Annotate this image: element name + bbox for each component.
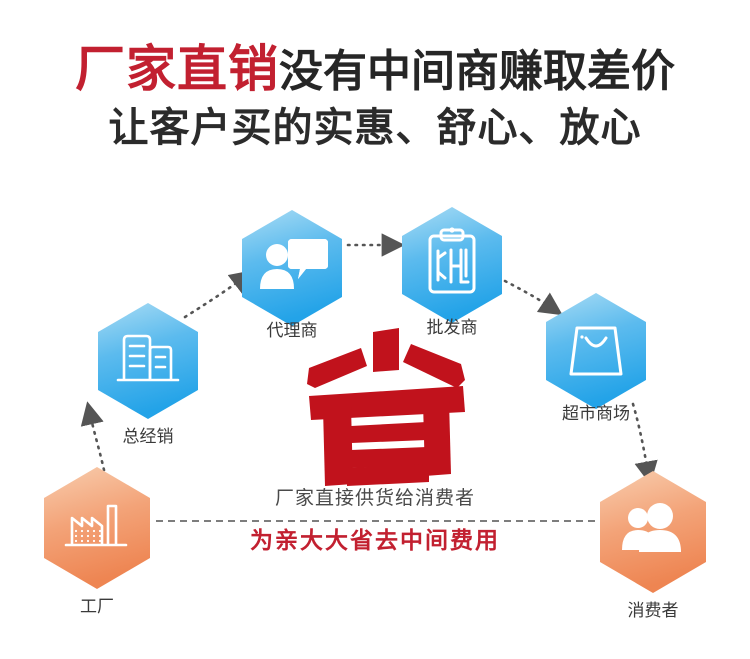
node-agent[interactable]: 代理商	[240, 209, 344, 327]
node-label-consumer: 消费者	[563, 596, 743, 621]
factory-hexagon	[42, 466, 152, 590]
node-label-supermarket: 超市商场	[506, 399, 686, 424]
node-wholesaler[interactable]: 批发商	[400, 206, 504, 324]
supermarket-hexagon	[544, 292, 648, 410]
distributor-hexagon	[96, 302, 200, 420]
node-factory[interactable]: 工厂	[42, 466, 152, 590]
sheng-character-icon	[295, 322, 475, 490]
node-label-factory: 工厂	[7, 592, 187, 617]
node-general-distributor[interactable]: 总经销	[96, 302, 200, 420]
promo-banner: 厂家直销没有中间商赚取差价 让客户买的实惠、舒心、放心	[0, 0, 750, 659]
wholesaler-hexagon	[400, 206, 504, 324]
agent-hexagon	[240, 209, 344, 327]
savings-watermark	[295, 322, 475, 487]
direct-supply-note: 厂家直接供货给消费者	[0, 489, 750, 508]
node-supermarket[interactable]: 超市商场	[544, 292, 648, 410]
node-label-general-distributor: 总经销	[58, 422, 238, 447]
savings-note: 为亲大大省去中间费用	[0, 530, 750, 553]
